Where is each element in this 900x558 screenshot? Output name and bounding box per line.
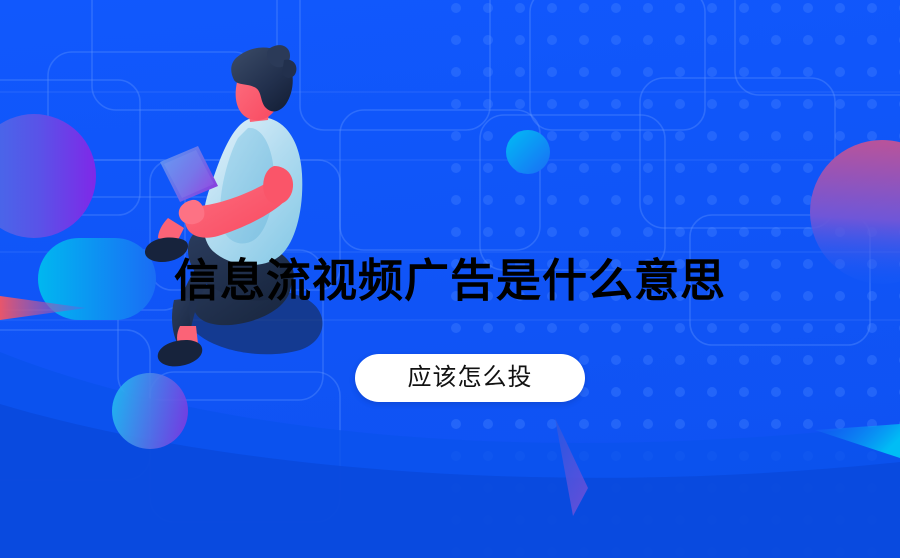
hair-tuft-small (282, 60, 296, 78)
page-title: 信息流视频广告是什么意思 (0, 255, 900, 307)
cta-button[interactable]: 应该怎么投 (355, 354, 585, 402)
promo-banner: 信息流视频广告是什么意思 应该怎么投 (0, 0, 900, 558)
hand (179, 200, 205, 224)
cta-button-label: 应该怎么投 (408, 364, 533, 392)
shoe-lower (158, 340, 203, 366)
